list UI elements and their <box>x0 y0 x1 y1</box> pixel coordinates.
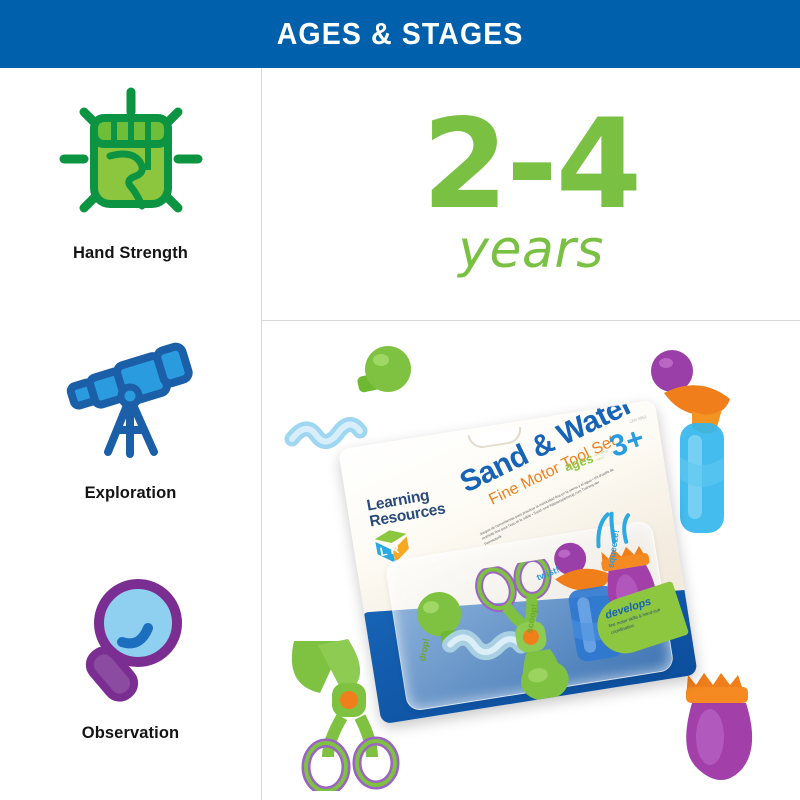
telescope-icon <box>0 326 261 476</box>
fist-strength-icon <box>0 86 261 236</box>
sidebar-item-hand-strength[interactable]: Hand Strength <box>0 86 261 263</box>
ages-badge-word: ages <box>562 450 595 474</box>
sidebar-item-exploration[interactable]: Exploration <box>0 326 261 503</box>
page-title: AGES & STAGES <box>277 16 524 52</box>
sidebar-item-observation[interactable]: Observation <box>0 566 261 743</box>
product-package: Learning Resources LR Sand & Water Fine … <box>338 400 698 725</box>
age-range-panel: 2-4 years <box>262 68 800 320</box>
age-range-value: 2-4 <box>422 108 640 222</box>
feature-sidebar: Hand Strength <box>0 68 261 800</box>
sidebar-item-label: Hand Strength <box>0 244 261 263</box>
age-range-unit: years <box>458 220 604 280</box>
toy-eyedropper-loose <box>282 339 412 449</box>
ages-badge-sub: ans años Jahre <box>594 449 612 463</box>
product-photo: Learning Resources LR Sand & Water Fine … <box>262 321 800 800</box>
content-area: Hand Strength <box>0 68 800 800</box>
sidebar-item-label: Observation <box>0 724 261 743</box>
product-image-panel: Learning Resources LR Sand & Water Fine … <box>262 321 800 800</box>
magnifying-glass-icon <box>0 566 261 716</box>
toy-squeeze-bulb-loose <box>662 661 772 791</box>
sidebar-item-label: Exploration <box>0 484 261 503</box>
brand-name: Learning Resources <box>366 483 462 530</box>
header-bar: AGES & STAGES <box>0 0 800 68</box>
